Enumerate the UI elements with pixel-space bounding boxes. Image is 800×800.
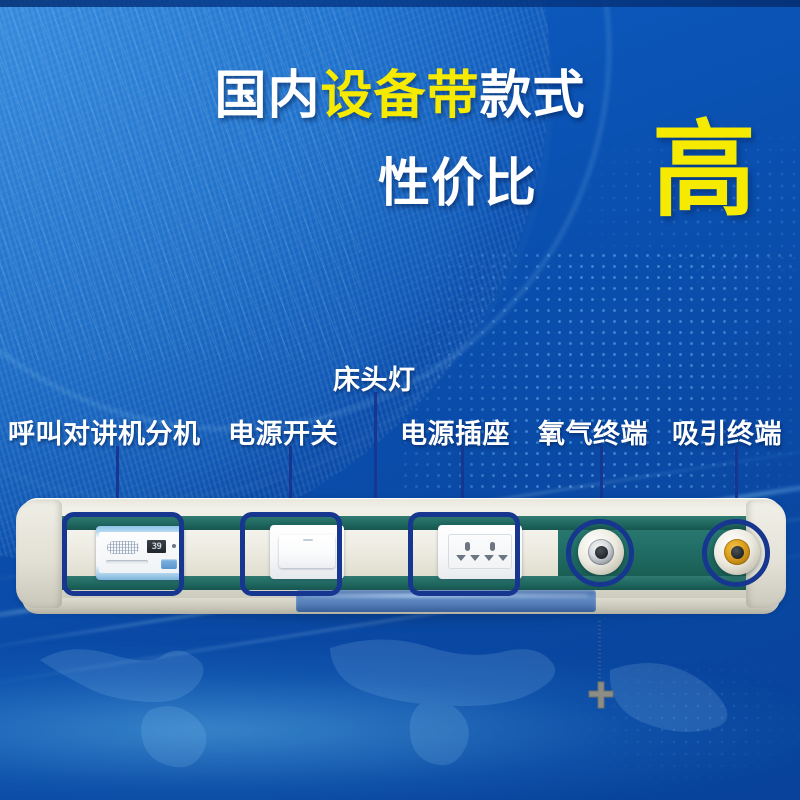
intercom-display: 39 <box>147 540 166 553</box>
nurse-call-intercom[interactable]: 39 <box>96 526 184 580</box>
callout-suction-terminal: 吸引终端 <box>672 412 782 451</box>
socket-pin-hole <box>498 555 508 561</box>
suction-terminal[interactable] <box>714 529 760 575</box>
callout-label-power-socket: 电源插座 <box>400 412 510 451</box>
callout-label-power-switch: 电源开关 <box>228 412 338 451</box>
headline-part-gao: 高 <box>652 118 756 222</box>
intercom-faceplate: 39 <box>99 532 181 573</box>
power-switch[interactable] <box>270 525 344 579</box>
unit-end-cap-left <box>16 500 62 608</box>
status-led-icon <box>172 544 176 548</box>
callout-label-intercom: 呼叫对讲机分机 <box>8 412 201 451</box>
callout-oxygen-terminal: 氧气终端 <box>538 412 648 451</box>
socket-pin-hole <box>465 542 470 551</box>
callout-power-switch: 电源开关 <box>228 412 338 451</box>
headline-part-xingjiabi: 性价比 <box>378 158 537 210</box>
intercom-slot <box>106 560 148 564</box>
headline-part-kuanshi: 款式 <box>480 66 586 126</box>
power-switch-rocker[interactable] <box>279 535 335 568</box>
socket-pin-hole <box>470 555 480 561</box>
socket-pin-hole <box>456 555 466 561</box>
headline-block: 国内设备带款式 性价比 高 <box>0 70 800 241</box>
callout-label-oxygen-terminal: 氧气终端 <box>538 412 648 451</box>
banner-image: 国内设备带款式 性价比 高 呼叫对讲机分机 电源开关 床头灯 电源插座 氧气终端… <box>0 0 800 800</box>
bed-lamp-diffuser[interactable] <box>296 590 596 612</box>
suction-terminal-port <box>731 546 744 559</box>
top-bar-decoration <box>0 0 800 7</box>
oxygen-terminal-port <box>595 546 608 559</box>
speaker-grille-icon <box>107 541 139 554</box>
intercom-call-button[interactable] <box>161 559 177 569</box>
socket-pin-hole <box>484 555 494 561</box>
socket-faceplate <box>448 534 512 569</box>
oxygen-terminal[interactable] <box>578 529 624 575</box>
pull-cord[interactable] <box>598 620 601 686</box>
power-socket[interactable] <box>438 525 522 579</box>
callout-intercom: 呼叫对讲机分机 <box>8 412 201 451</box>
switch-tick-icon <box>303 539 313 541</box>
bed-head-unit: 39 <box>18 498 784 626</box>
intercom-display-value: 39 <box>152 542 162 552</box>
headline-part-shebeidai: 设备带 <box>320 66 479 126</box>
callout-power-socket: 电源插座 <box>400 412 510 451</box>
pull-cord-handle-icon[interactable] <box>584 680 618 714</box>
headline-line-2: 性价比 高 <box>0 136 800 241</box>
suction-terminal-face <box>724 539 750 565</box>
headline-part-guonei: 国内 <box>214 66 320 126</box>
socket-pin-hole <box>490 542 495 551</box>
oxygen-terminal-face <box>588 539 614 565</box>
bed-lamp-gloss <box>302 593 588 598</box>
callout-label-suction-terminal: 吸引终端 <box>672 412 782 451</box>
